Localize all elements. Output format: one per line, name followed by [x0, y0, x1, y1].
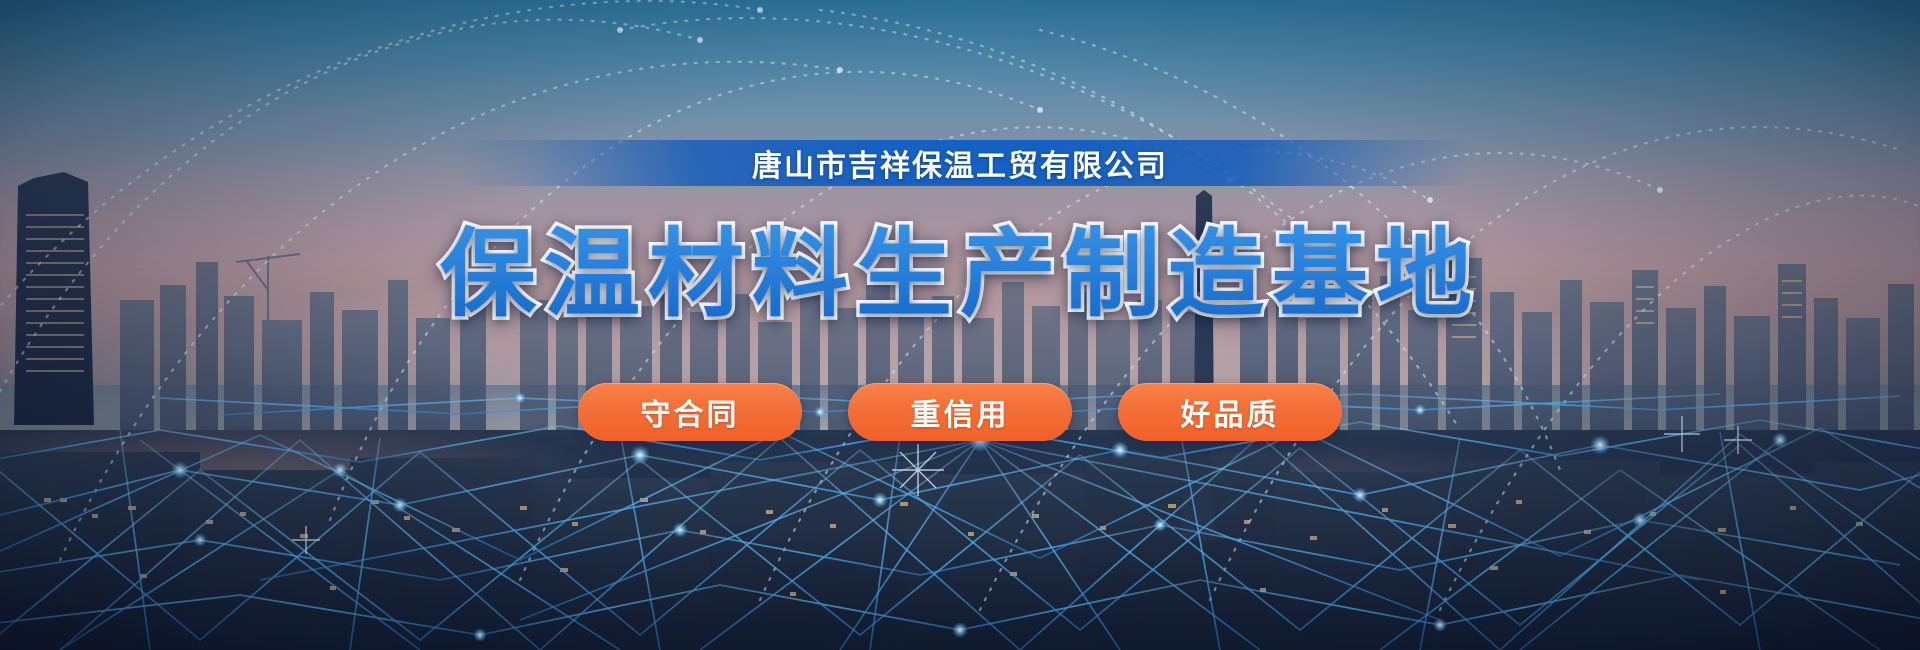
badge-keep-contract[interactable]: 守合同	[578, 383, 802, 441]
badge-label: 好品质	[1181, 390, 1280, 434]
company-name-bar: 唐山市吉祥保温工贸有限公司	[450, 140, 1470, 186]
badge-value-credit[interactable]: 重信用	[848, 383, 1072, 441]
headline-title: 保温材料生产制造基地	[440, 196, 1480, 335]
badge-list: 守合同 重信用 好品质	[578, 383, 1342, 441]
badge-label: 重信用	[911, 390, 1010, 434]
company-name: 唐山市吉祥保温工贸有限公司	[752, 141, 1168, 185]
badge-label: 守合同	[641, 390, 740, 434]
badge-good-quality[interactable]: 好品质	[1118, 383, 1342, 441]
banner-content: 唐山市吉祥保温工贸有限公司 保温材料生产制造基地 保温材料生产制造基地 守合同 …	[0, 0, 1920, 650]
hero-banner: 唐山市吉祥保温工贸有限公司 保温材料生产制造基地 保温材料生产制造基地 守合同 …	[0, 0, 1920, 650]
